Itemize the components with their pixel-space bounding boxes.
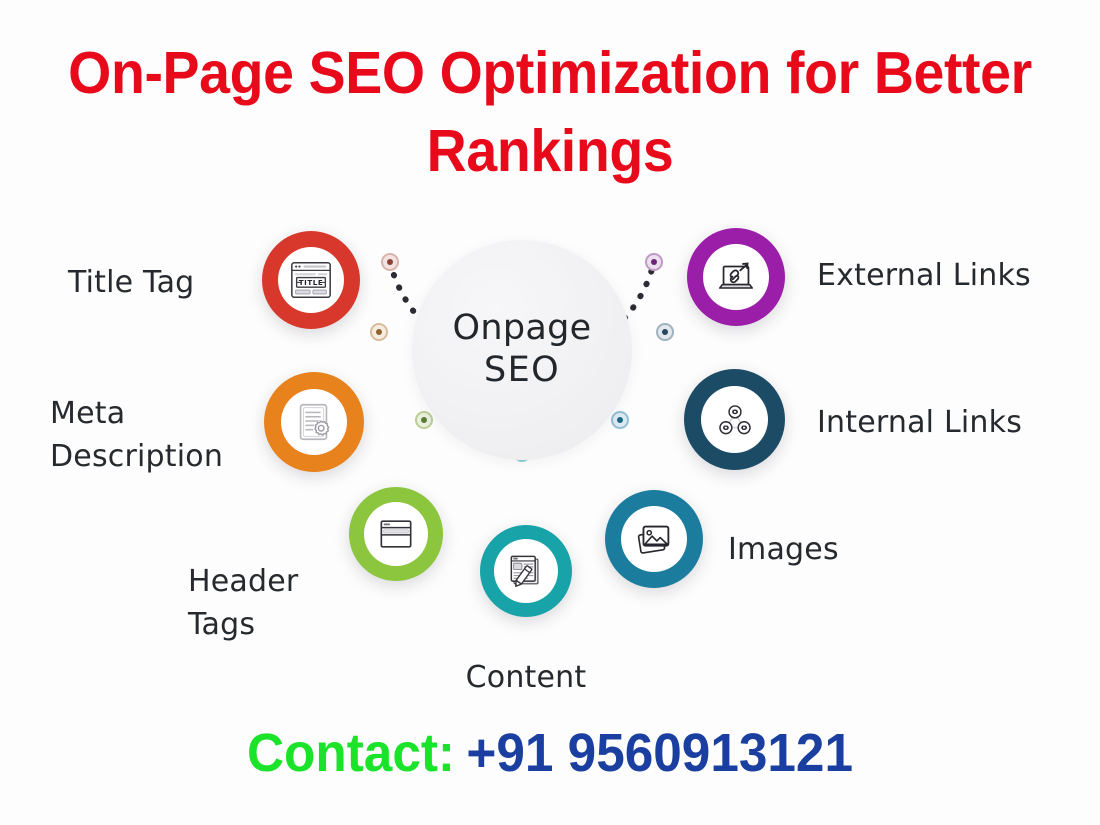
link-network-icon (712, 397, 758, 443)
photo-stack-icon (631, 516, 677, 562)
page-title: On-Page SEO Optimization for Better Rank… (33, 34, 1067, 191)
window-layout-icon (374, 512, 418, 556)
node-external-links[interactable] (687, 228, 785, 326)
laptop-link-icon (713, 254, 759, 300)
label-header-tags: Header Tags (188, 561, 368, 646)
contact-number[interactable]: +91 9560913121 (466, 723, 853, 783)
node-content[interactable] (480, 525, 572, 617)
svg-text:TITLE: TITLE (299, 278, 324, 287)
node-images[interactable] (605, 490, 703, 588)
document-gear-icon (291, 399, 337, 445)
seo-infographic-poster: On-Page SEO Optimization for Better Rank… (0, 0, 1100, 825)
label-images: Images (728, 529, 948, 572)
browser-title-icon: TITLE (288, 257, 334, 303)
contact-line: Contact:+91 9560913121 (28, 722, 1073, 784)
contact-label: Contact: (247, 723, 455, 783)
hub-line-1: Onpage (453, 309, 592, 349)
label-internal-links: Internal Links (817, 402, 1077, 445)
label-title-tag: Title Tag (68, 262, 268, 305)
label-external-links: External Links (817, 255, 1082, 298)
node-title-tag[interactable]: TITLE (262, 231, 360, 329)
label-meta-description: Meta Description (50, 393, 265, 478)
node-meta-description[interactable] (264, 372, 364, 472)
document-pencil-icon (504, 549, 548, 593)
node-internal-links[interactable] (684, 369, 785, 470)
label-content: Content (406, 657, 646, 700)
center-hub: Onpage SEO (412, 240, 632, 460)
hub-line-2: SEO (484, 349, 560, 392)
